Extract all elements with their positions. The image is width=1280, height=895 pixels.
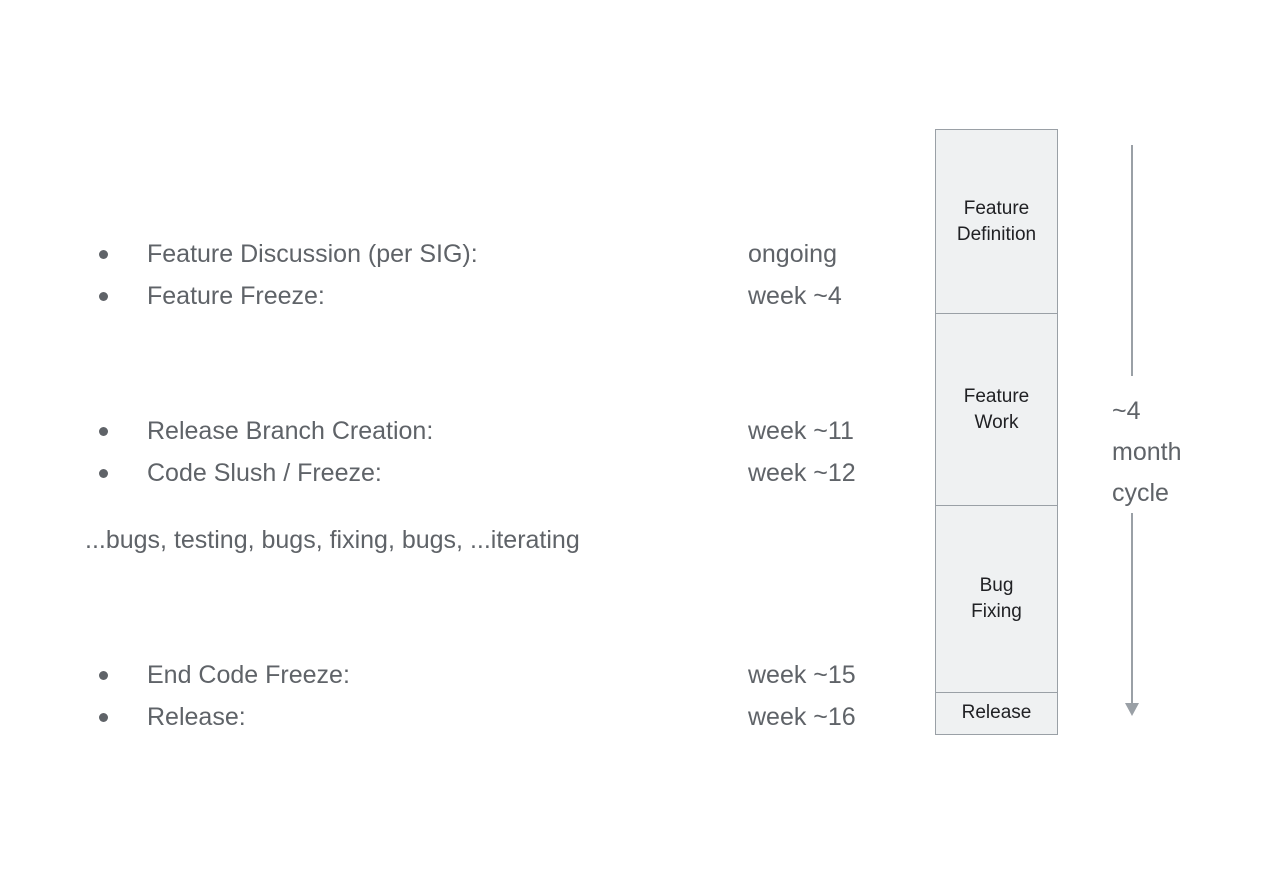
schedule-row-label: Feature Freeze:	[147, 275, 325, 317]
arrow-down-icon	[1125, 703, 1139, 716]
schedule-row-label: Release:	[147, 696, 246, 738]
schedule-row-label: Feature Discussion (per SIG):	[147, 233, 478, 275]
bullet-icon	[99, 250, 108, 259]
phase-release: Release	[936, 692, 1057, 733]
phase-label: Release	[962, 700, 1032, 726]
schedule-group-feature-work: Release Branch Creation: week ~11 Code S…	[90, 410, 890, 494]
cycle-duration-annotation: ~4 month cycle	[1100, 129, 1250, 739]
schedule-row-value: week ~12	[748, 452, 856, 494]
phase-label: Feature Work	[964, 384, 1029, 436]
schedule-row-label: Release Branch Creation:	[147, 410, 433, 452]
schedule-row-value: week ~11	[748, 410, 854, 452]
phase-feature-definition: Feature Definition	[936, 130, 1057, 313]
schedule-row-value: week ~15	[748, 654, 856, 696]
schedule-row-value: week ~4	[748, 275, 842, 317]
slide-canvas: Feature Discussion (per SIG): ongoing Fe…	[0, 0, 1280, 895]
bullet-icon	[99, 713, 108, 722]
phase-feature-work: Feature Work	[936, 313, 1057, 505]
schedule-row: Release Branch Creation: week ~11	[90, 410, 890, 452]
schedule-row: Release: week ~16	[90, 696, 890, 738]
schedule-row-label: End Code Freeze:	[147, 654, 350, 696]
schedule-group-release: End Code Freeze: week ~15 Release: week …	[90, 654, 890, 738]
schedule-row: End Code Freeze: week ~15	[90, 654, 890, 696]
cycle-arrow-line-top	[1131, 145, 1133, 376]
schedule-row: Feature Discussion (per SIG): ongoing	[90, 233, 890, 275]
schedule-row-label: Code Slush / Freeze:	[147, 452, 382, 494]
schedule-row: Feature Freeze: week ~4	[90, 275, 890, 317]
bullet-icon	[99, 671, 108, 680]
schedule-row-value: ongoing	[748, 233, 837, 275]
phase-label: Feature Definition	[957, 196, 1036, 248]
cycle-duration-label: ~4 month cycle	[1112, 391, 1181, 514]
schedule-row-value: week ~16	[748, 696, 856, 738]
phase-bug-fixing: Bug Fixing	[936, 505, 1057, 692]
cycle-arrow-line-bottom	[1131, 513, 1133, 706]
phase-label: Bug Fixing	[971, 573, 1022, 625]
schedule-row: Code Slush / Freeze: week ~12	[90, 452, 890, 494]
schedule-group-feature-definition: Feature Discussion (per SIG): ongoing Fe…	[90, 233, 890, 317]
iteration-note: ...bugs, testing, bugs, fixing, bugs, ..…	[85, 519, 580, 561]
bullet-icon	[99, 292, 108, 301]
release-phase-bar: Feature Definition Feature Work Bug Fixi…	[935, 129, 1058, 735]
bullet-icon	[99, 427, 108, 436]
bullet-icon	[99, 469, 108, 478]
